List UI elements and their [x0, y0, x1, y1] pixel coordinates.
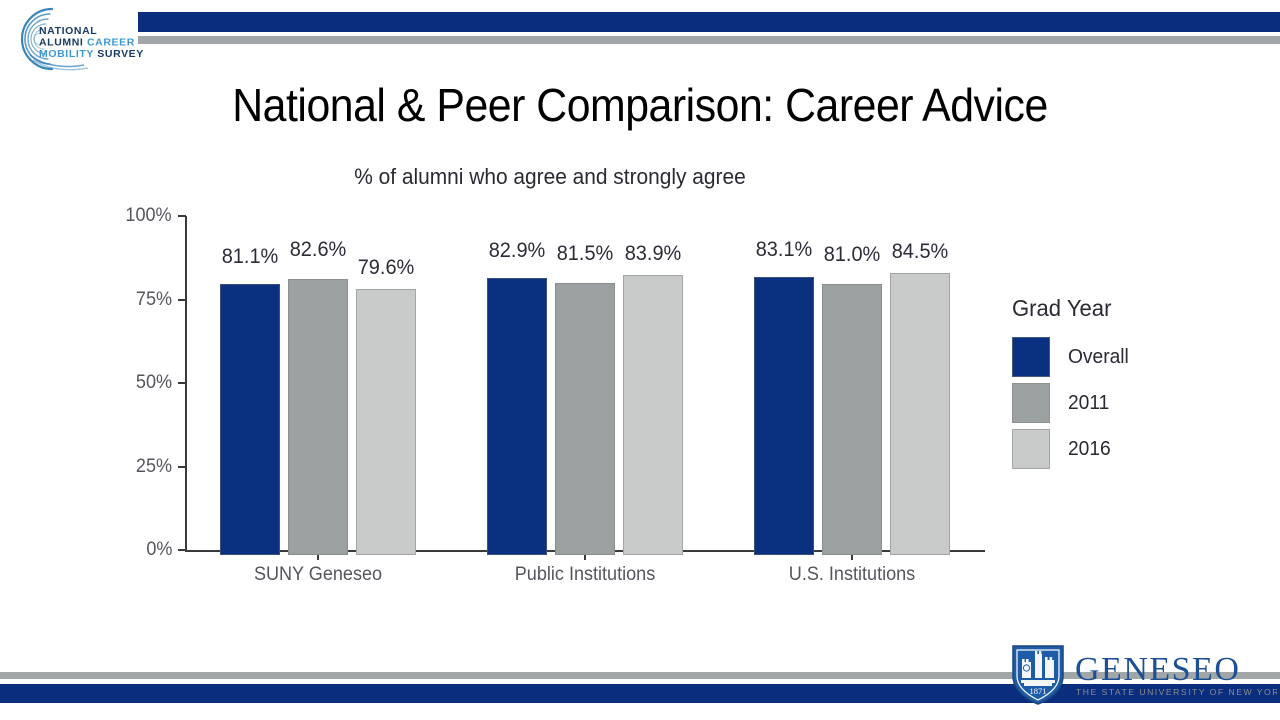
- geneseo-logo: 1871 GENESEO THE STATE UNIVERSITY OF NEW…: [1005, 638, 1277, 710]
- legend-swatch: [1012, 337, 1050, 377]
- geneseo-shield-icon: 1871: [1013, 646, 1063, 704]
- legend-swatch: [1012, 383, 1050, 423]
- legend-item-label: 2011: [1068, 392, 1109, 415]
- x-axis-category-label: Public Institutions: [515, 564, 655, 586]
- x-axis-category-label: SUNY Geneseo: [254, 564, 382, 586]
- plot-area: [185, 210, 985, 555]
- bar-overall-u-s-institutions[interactable]: [754, 277, 814, 555]
- bar-overall-public-institutions[interactable]: [487, 278, 547, 555]
- bar-2011-suny-geneseo[interactable]: [288, 279, 348, 555]
- legend-items: Overall20112016: [1012, 334, 1192, 472]
- header-accent-bar-blue: [138, 12, 1280, 32]
- page-title: National & Peer Comparison: Career Advic…: [45, 78, 1235, 132]
- nacm-line-1: NATIONAL: [39, 25, 97, 37]
- y-axis-tick-label: 25%: [136, 456, 172, 478]
- y-axis-tick-label: 100%: [126, 205, 172, 227]
- bar-2016-public-institutions[interactable]: [623, 275, 683, 555]
- legend-item-label: 2016: [1068, 438, 1111, 461]
- nacm-survey-logo: NATIONAL ALUMNI CAREER MOBILITY SURVEY: [6, 3, 151, 75]
- y-axis-tick-label: 50%: [136, 372, 172, 394]
- bar-overall-suny-geneseo[interactable]: [220, 284, 280, 555]
- bar-2016-u-s-institutions[interactable]: [890, 273, 950, 555]
- legend-item-2011[interactable]: 2011: [1012, 380, 1192, 426]
- geneseo-tagline: THE STATE UNIVERSITY OF NEW YORK: [1076, 687, 1277, 697]
- legend-swatch: [1012, 429, 1050, 469]
- bar-2016-suny-geneseo[interactable]: [356, 289, 416, 555]
- chart-title: % of alumni who agree and strongly agree: [132, 164, 968, 190]
- x-axis-category-label: U.S. Institutions: [788, 564, 914, 586]
- nacm-line-3: MOBILITY SURVEY: [39, 48, 144, 60]
- header-accent-bar-gray: [138, 36, 1280, 44]
- bar-2011-public-institutions[interactable]: [555, 283, 615, 555]
- legend-item-2016[interactable]: 2016: [1012, 426, 1192, 472]
- legend-title: Grad Year: [1012, 295, 1185, 322]
- y-axis-tick-label: 75%: [136, 289, 172, 311]
- chart-legend: Grad Year Overall20112016: [1012, 295, 1192, 472]
- bar-chart: % of alumni who agree and strongly agree…: [0, 150, 1280, 620]
- slide-canvas: NATIONAL ALUMNI CAREER MOBILITY SURVEY N…: [0, 0, 1280, 720]
- legend-item-overall[interactable]: Overall: [1012, 334, 1192, 380]
- nacm-line-2: ALUMNI CAREER: [39, 37, 135, 49]
- geneseo-wordmark: GENESEO: [1075, 651, 1240, 688]
- y-axis-tick-label: 0%: [146, 539, 172, 561]
- bar-2011-u-s-institutions[interactable]: [822, 284, 882, 555]
- geneseo-shield-year: 1871: [1030, 686, 1047, 696]
- legend-item-label: Overall: [1068, 346, 1129, 369]
